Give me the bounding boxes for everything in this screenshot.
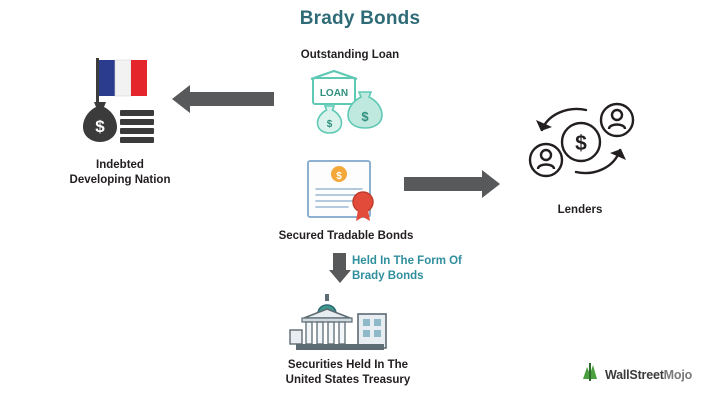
certificate-with-seal-icon: $ [300,158,392,222]
wallstreetmojo-logo-icon [580,362,600,387]
indebted-nation-label-line2: Developing Nation [40,173,200,188]
brand-name-part1: WallStreet [605,368,664,382]
outstanding-loan-label: Outstanding Loan [265,48,435,63]
svg-text:$: $ [575,132,587,155]
svg-text:$: $ [361,109,369,124]
treasury-label: Securities Held In The United States Tre… [248,358,448,388]
indebted-nation-label: Indebted Developing Nation [40,158,200,188]
loan-bag-icon: LOAN $ $ [305,70,391,138]
treasury-building-icon [288,292,392,354]
page-title: Brady Bonds [0,8,720,30]
diagram-canvas: Brady Bonds $ Indebted Devel [0,0,720,404]
brand-watermark: WallStreetMojo [580,362,692,387]
brand-name-part2: Mojo [664,368,692,382]
svg-text:$: $ [95,117,105,136]
held-in-form-label-line2: Brady Bonds [352,269,522,284]
svg-text:$: $ [327,119,333,130]
held-in-form-label-line1: Held In The Form Of [352,254,522,269]
treasury-label-line2: United States Treasury [248,373,448,388]
held-in-form-label: Held In The Form Of Brady Bonds [352,254,522,284]
people-and-dollar-exchange-icon: $ [524,98,638,188]
secured-bonds-label: Secured Tradable Bonds [256,229,436,244]
svg-text:$: $ [336,171,342,182]
svg-text:LOAN: LOAN [320,88,348,99]
brand-name: WallStreetMojo [605,368,692,382]
treasury-label-line1: Securities Held In The [248,358,448,373]
indebted-nation-label-line1: Indebted [40,158,200,173]
lenders-label: Lenders [510,203,650,218]
france-flag-and-money-bags-icon: $ [72,50,168,150]
